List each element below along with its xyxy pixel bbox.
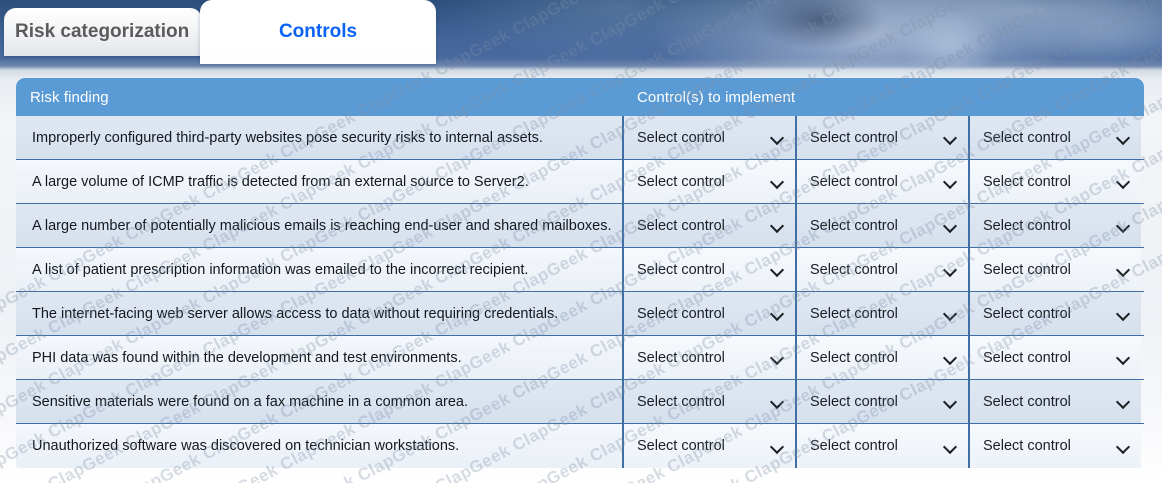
chevron-down-icon <box>1117 131 1130 144</box>
chevron-down-icon <box>771 219 784 232</box>
chevron-down-icon <box>1117 440 1130 453</box>
risk-finding-cell: Improperly configured third-party websit… <box>16 116 622 159</box>
control-select-value: Select control <box>810 350 898 366</box>
risk-finding-cell: The internet-facing web server allows ac… <box>16 292 622 335</box>
risk-finding-text: PHI data was found within the developmen… <box>32 350 462 366</box>
risk-finding-text: A large number of potentially malicious … <box>32 218 612 234</box>
column-header-risk-finding-label: Risk finding <box>30 89 109 106</box>
table-row: Sensitive materials were found on a fax … <box>16 380 1144 424</box>
control-select-value: Select control <box>983 306 1071 322</box>
column-header-controls-label: Control(s) to implement <box>637 89 795 106</box>
tab-controls[interactable]: Controls <box>200 0 436 64</box>
control-select-value: Select control <box>810 394 898 410</box>
control-select-value: Select control <box>810 438 898 454</box>
risk-finding-text: Improperly configured third-party websit… <box>32 130 543 146</box>
chevron-down-icon <box>1117 351 1130 364</box>
control-select-value: Select control <box>983 350 1071 366</box>
controls-cell: Select controlSelect controlSelect contr… <box>622 336 1144 379</box>
control-select-value: Select control <box>810 306 898 322</box>
control-select-value: Select control <box>810 130 898 146</box>
chevron-down-icon <box>1117 175 1130 188</box>
control-select-2[interactable]: Select control <box>795 204 968 247</box>
control-select-1[interactable]: Select control <box>622 336 795 379</box>
table-row: The internet-facing web server allows ac… <box>16 292 1144 336</box>
control-select-2[interactable]: Select control <box>795 160 968 203</box>
column-header-risk-finding: Risk finding <box>16 78 622 116</box>
control-select-value: Select control <box>983 218 1071 234</box>
controls-cell: Select controlSelect controlSelect contr… <box>622 424 1144 468</box>
control-select-value: Select control <box>637 174 725 190</box>
control-select-1[interactable]: Select control <box>622 380 795 423</box>
control-select-2[interactable]: Select control <box>795 248 968 291</box>
risk-finding-text: Unauthorized software was discovered on … <box>32 438 459 454</box>
control-select-3[interactable]: Select control <box>968 424 1141 468</box>
column-header-controls: Control(s) to implement <box>622 78 1144 116</box>
control-select-3[interactable]: Select control <box>968 160 1141 203</box>
chevron-down-icon <box>771 307 784 320</box>
risk-finding-cell: Sensitive materials were found on a fax … <box>16 380 622 423</box>
chevron-down-icon <box>771 175 784 188</box>
chevron-down-icon <box>944 440 957 453</box>
risk-finding-text: A large volume of ICMP traffic is detect… <box>32 174 529 190</box>
risk-finding-cell: PHI data was found within the developmen… <box>16 336 622 379</box>
table-row: Improperly configured third-party websit… <box>16 116 1144 160</box>
chevron-down-icon <box>771 395 784 408</box>
risk-finding-cell: Unauthorized software was discovered on … <box>16 424 622 468</box>
chevron-down-icon <box>1117 263 1130 276</box>
risk-finding-text: The internet-facing web server allows ac… <box>32 306 558 322</box>
control-select-2[interactable]: Select control <box>795 292 968 335</box>
chevron-down-icon <box>771 263 784 276</box>
control-select-3[interactable]: Select control <box>968 248 1141 291</box>
control-select-1[interactable]: Select control <box>622 424 795 468</box>
table-row: PHI data was found within the developmen… <box>16 336 1144 380</box>
table-row: A large volume of ICMP traffic is detect… <box>16 160 1144 204</box>
tab-controls-label: Controls <box>279 21 357 43</box>
risk-finding-cell: A large number of potentially malicious … <box>16 204 622 247</box>
chevron-down-icon <box>771 131 784 144</box>
control-select-value: Select control <box>983 130 1071 146</box>
table-header-row: Risk finding Control(s) to implement <box>16 78 1144 116</box>
control-select-2[interactable]: Select control <box>795 380 968 423</box>
tab-risk-categorization[interactable]: Risk categorization <box>4 8 202 56</box>
chevron-down-icon <box>944 395 957 408</box>
control-select-value: Select control <box>810 262 898 278</box>
control-select-value: Select control <box>810 218 898 234</box>
control-select-1[interactable]: Select control <box>622 248 795 291</box>
tab-risk-categorization-label: Risk categorization <box>15 21 189 43</box>
risk-finding-cell: A list of patient prescription informati… <box>16 248 622 291</box>
controls-cell: Select controlSelect controlSelect contr… <box>622 292 1144 335</box>
background-sky-detail <box>700 0 1162 72</box>
control-select-2[interactable]: Select control <box>795 336 968 379</box>
table-row: Unauthorized software was discovered on … <box>16 424 1144 468</box>
chevron-down-icon <box>944 219 957 232</box>
risk-finding-text: A list of patient prescription informati… <box>32 262 528 278</box>
control-select-1[interactable]: Select control <box>622 116 795 159</box>
controls-cell: Select controlSelect controlSelect contr… <box>622 116 1144 159</box>
control-select-value: Select control <box>637 306 725 322</box>
chevron-down-icon <box>771 351 784 364</box>
control-select-value: Select control <box>637 394 725 410</box>
control-select-3[interactable]: Select control <box>968 336 1141 379</box>
table-row: A large number of potentially malicious … <box>16 204 1144 248</box>
chevron-down-icon <box>1117 307 1130 320</box>
control-select-value: Select control <box>983 394 1071 410</box>
chevron-down-icon <box>944 175 957 188</box>
control-select-value: Select control <box>637 262 725 278</box>
chevron-down-icon <box>944 131 957 144</box>
table-row: A list of patient prescription informati… <box>16 248 1144 292</box>
control-select-2[interactable]: Select control <box>795 424 968 468</box>
risk-controls-table: Risk finding Control(s) to implement Imp… <box>16 78 1144 468</box>
control-select-value: Select control <box>637 438 725 454</box>
control-select-value: Select control <box>983 262 1071 278</box>
control-select-1[interactable]: Select control <box>622 160 795 203</box>
chevron-down-icon <box>771 440 784 453</box>
controls-cell: Select controlSelect controlSelect contr… <box>622 204 1144 247</box>
chevron-down-icon <box>944 351 957 364</box>
chevron-down-icon <box>944 307 957 320</box>
chevron-down-icon <box>944 263 957 276</box>
control-select-1[interactable]: Select control <box>622 292 795 335</box>
control-select-2[interactable]: Select control <box>795 116 968 159</box>
control-select-3[interactable]: Select control <box>968 116 1141 159</box>
control-select-value: Select control <box>637 350 725 366</box>
controls-cell: Select controlSelect controlSelect contr… <box>622 248 1144 291</box>
control-select-3[interactable]: Select control <box>968 292 1141 335</box>
control-select-value: Select control <box>983 438 1071 454</box>
control-select-value: Select control <box>983 174 1071 190</box>
chevron-down-icon <box>1117 219 1130 232</box>
control-select-value: Select control <box>637 218 725 234</box>
chevron-down-icon <box>1117 395 1130 408</box>
control-select-value: Select control <box>810 174 898 190</box>
controls-cell: Select controlSelect controlSelect contr… <box>622 160 1144 203</box>
control-select-value: Select control <box>637 130 725 146</box>
control-select-3[interactable]: Select control <box>968 380 1141 423</box>
risk-finding-cell: A large volume of ICMP traffic is detect… <box>16 160 622 203</box>
control-select-3[interactable]: Select control <box>968 204 1141 247</box>
controls-cell: Select controlSelect controlSelect contr… <box>622 380 1144 423</box>
risk-finding-text: Sensitive materials were found on a fax … <box>32 394 468 410</box>
control-select-1[interactable]: Select control <box>622 204 795 247</box>
